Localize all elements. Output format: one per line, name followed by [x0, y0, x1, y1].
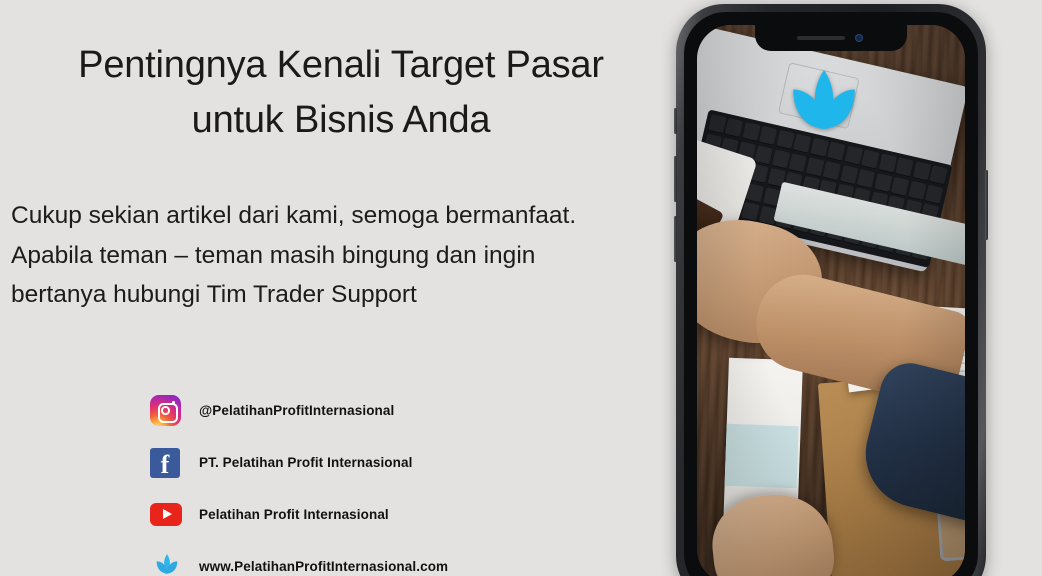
earpiece-speaker-icon — [797, 36, 845, 40]
list-item[interactable]: f PT. Pelatihan Profit Internasional — [150, 440, 650, 485]
phone-mockup — [676, 4, 986, 576]
phone-mute-switch[interactable] — [674, 108, 677, 134]
content-column: Pentingnya Kenali Target Pasar untuk Bis… — [0, 0, 680, 576]
phone-volume-up-button[interactable] — [674, 156, 677, 202]
lotus-logo-overlay-icon — [783, 65, 865, 147]
body-paragraph: Cukup sekian artikel dari kami, semoga b… — [11, 196, 671, 315]
title-line-1: Pentingnya Kenali Target Pasar — [11, 38, 671, 93]
facebook-icon[interactable]: f — [150, 446, 190, 480]
phone-volume-down-button[interactable] — [674, 216, 677, 262]
phone-bezel — [684, 12, 978, 576]
title-line-2: untuk Bisnis Anda — [11, 93, 671, 148]
lotus-logo-icon[interactable] — [150, 550, 190, 576]
card-tinted-band — [725, 424, 799, 488]
body-line-2: Apabila teman – teman masih bingung dan … — [11, 236, 671, 276]
list-item[interactable]: Pelatihan Profit Internasional — [150, 492, 650, 537]
social-links-list: @PelatihanProfitInternasional f PT. Pela… — [150, 388, 650, 576]
phone-notch — [755, 25, 907, 51]
lotus-logo-svg — [150, 550, 184, 576]
list-item[interactable]: www.PelatihanProfitInternasional.com — [150, 544, 650, 576]
desk-photo — [697, 25, 965, 576]
instagram-handle-label: @PelatihanProfitInternasional — [199, 403, 394, 418]
body-line-3: bertanya hubungi Tim Trader Support — [11, 275, 671, 315]
body-line-1: Cukup sekian artikel dari kami, semoga b… — [11, 196, 671, 236]
phone-screen[interactable] — [697, 25, 965, 576]
page-title: Pentingnya Kenali Target Pasar untuk Bis… — [11, 38, 671, 148]
youtube-icon[interactable] — [150, 498, 190, 532]
front-camera-icon — [855, 34, 863, 42]
facebook-f-glyph: f — [150, 451, 180, 478]
list-item[interactable]: @PelatihanProfitInternasional — [150, 388, 650, 433]
youtube-channel-label: Pelatihan Profit Internasional — [199, 507, 389, 522]
facebook-page-label: PT. Pelatihan Profit Internasional — [199, 455, 412, 470]
website-url-label: www.PelatihanProfitInternasional.com — [199, 559, 448, 574]
slide-canvas: Pentingnya Kenali Target Pasar untuk Bis… — [0, 0, 1042, 576]
phone-power-button[interactable] — [985, 170, 988, 240]
instagram-icon[interactable] — [150, 394, 190, 428]
